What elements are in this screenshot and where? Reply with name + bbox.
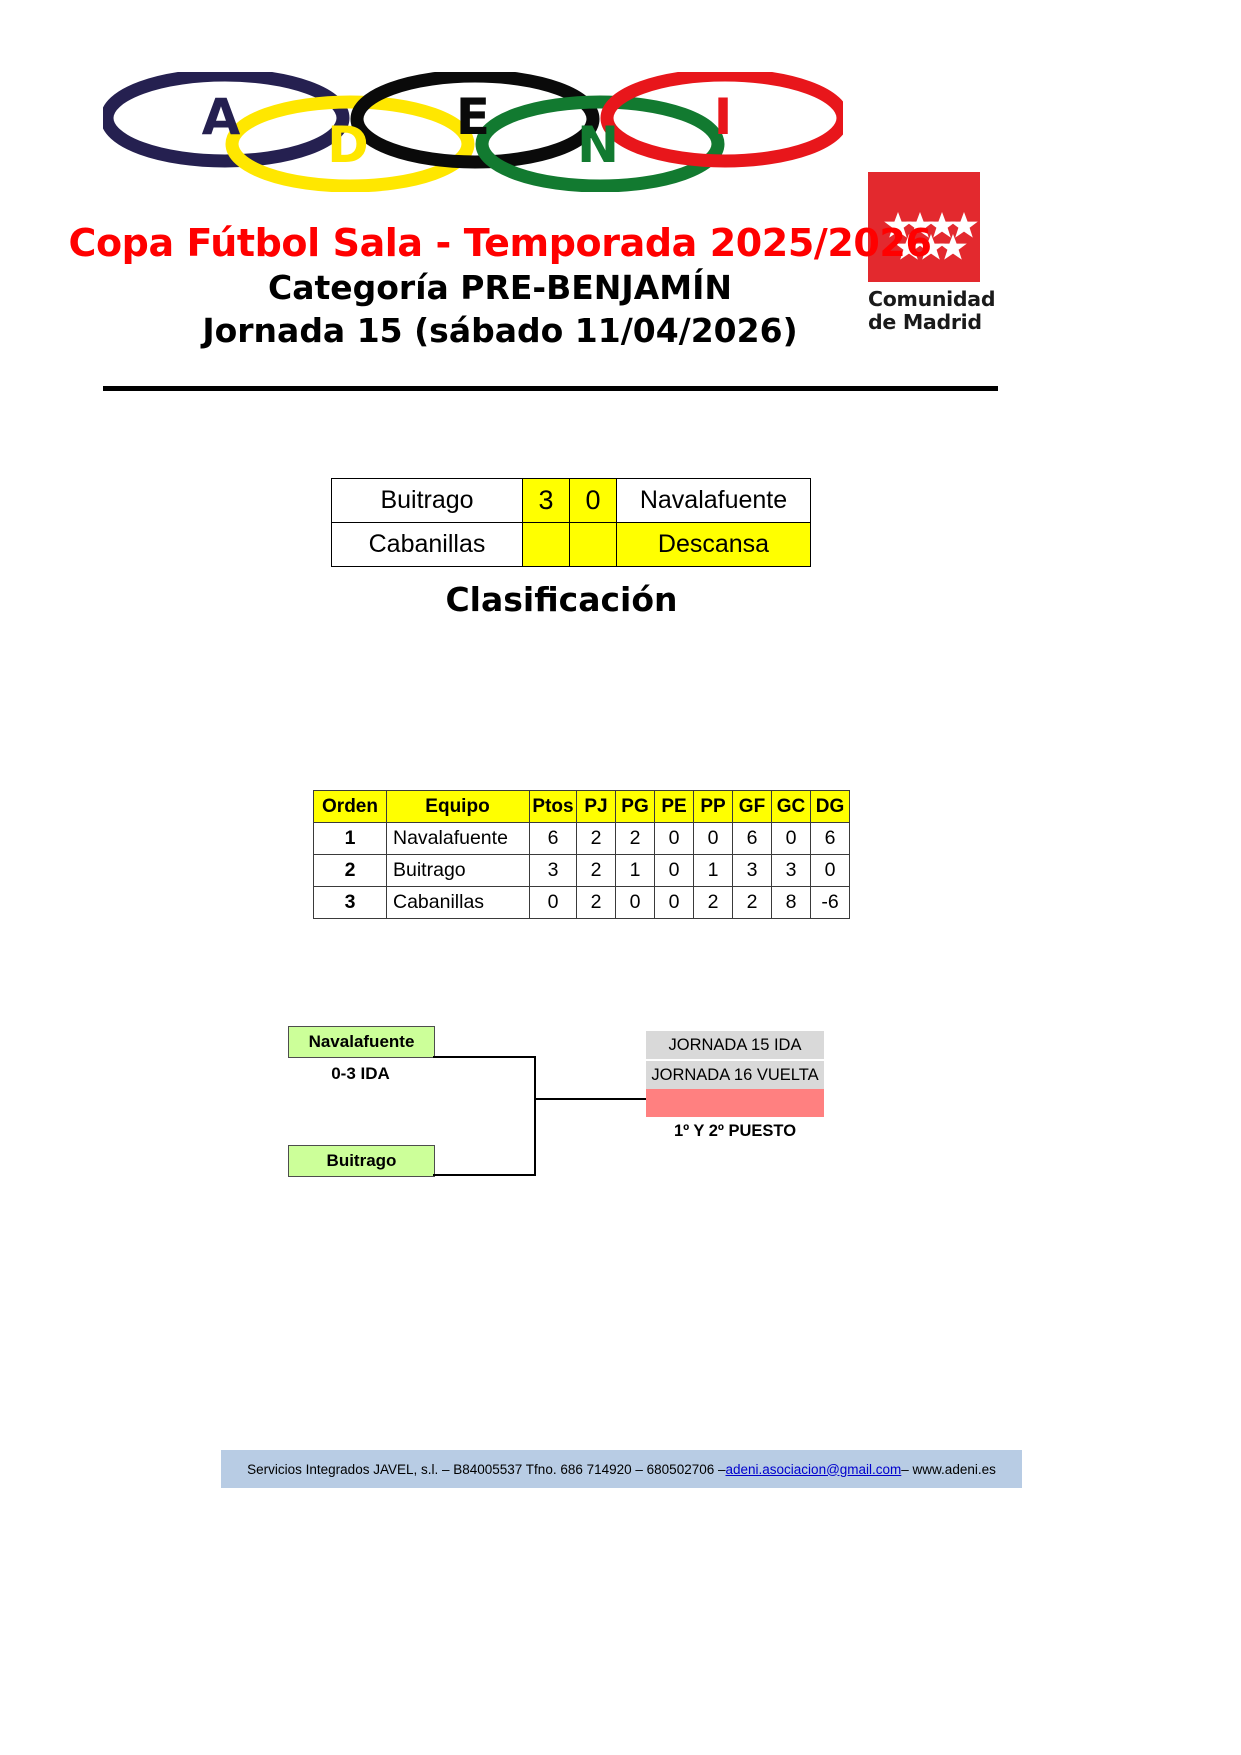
document-page: A D E N I bbox=[0, 0, 1241, 1755]
footer-email-link[interactable]: adeni.asociacion@gmail.com bbox=[726, 1462, 902, 1477]
cell-pp: 0 bbox=[694, 823, 733, 855]
cell-gf: 3 bbox=[733, 855, 772, 887]
match-away-score: 0 bbox=[570, 479, 617, 523]
header-pe: PE bbox=[655, 791, 694, 823]
match-home-score: 3 bbox=[523, 479, 570, 523]
cell-dg: 0 bbox=[811, 855, 850, 887]
bracket-info-vuelta: JORNADA 16 VUELTA bbox=[646, 1061, 824, 1089]
table-row: 3 Cabanillas 0 2 0 0 2 2 8 -6 bbox=[314, 887, 850, 919]
table-row: Cabanillas Descansa bbox=[332, 523, 811, 567]
cell-pp: 2 bbox=[694, 887, 733, 919]
cell-ptos: 3 bbox=[530, 855, 577, 887]
document-header: A D E N I bbox=[0, 0, 1241, 430]
footer-bar: Servicios Integrados JAVEL, s.l. – B8400… bbox=[221, 1450, 1022, 1488]
cell-pp: 1 bbox=[694, 855, 733, 887]
cell-orden: 2 bbox=[314, 855, 387, 887]
header-pp: PP bbox=[694, 791, 733, 823]
header-ptos: Ptos bbox=[530, 791, 577, 823]
bracket-connector-bottom bbox=[433, 1174, 536, 1176]
cell-equipo: Buitrago bbox=[387, 855, 530, 887]
match-away-team: Descansa bbox=[617, 523, 811, 567]
match-results-table: Buitrago 3 0 Navalafuente Cabanillas Des… bbox=[331, 478, 811, 567]
cell-equipo: Navalafuente bbox=[387, 823, 530, 855]
match-home-team: Cabanillas bbox=[332, 523, 523, 567]
table-row: 2 Buitrago 3 2 1 0 1 3 3 0 bbox=[314, 855, 850, 887]
cell-ptos: 6 bbox=[530, 823, 577, 855]
header-orden: Orden bbox=[314, 791, 387, 823]
header-pj: PJ bbox=[577, 791, 616, 823]
cell-equipo: Cabanillas bbox=[387, 887, 530, 919]
bracket-connector-output bbox=[534, 1098, 648, 1100]
cell-gc: 3 bbox=[772, 855, 811, 887]
cell-orden: 1 bbox=[314, 823, 387, 855]
table-row: Buitrago 3 0 Navalafuente bbox=[332, 479, 811, 523]
header-gc: GC bbox=[772, 791, 811, 823]
header-dg: DG bbox=[811, 791, 850, 823]
table-row: 1 Navalafuente 6 2 2 0 0 6 0 6 bbox=[314, 823, 850, 855]
page-title: Copa Fútbol Sala - Temporada 2025/2026 bbox=[0, 222, 1000, 265]
bracket-team-bottom: Buitrago bbox=[288, 1145, 435, 1177]
title-block: Copa Fútbol Sala - Temporada 2025/2026 C… bbox=[0, 222, 1000, 351]
cell-pg: 0 bbox=[616, 887, 655, 919]
footer-text-after: – www.adeni.es bbox=[901, 1462, 996, 1477]
svg-text:A: A bbox=[202, 88, 241, 146]
category-subtitle: Categoría PRE-BENJAMÍN bbox=[0, 268, 1000, 308]
header-equipo: Equipo bbox=[387, 791, 530, 823]
cell-gc: 0 bbox=[772, 823, 811, 855]
svg-text:I: I bbox=[714, 88, 733, 146]
cell-pe: 0 bbox=[655, 823, 694, 855]
cell-orden: 3 bbox=[314, 887, 387, 919]
adeni-logo-icon: A D E N I bbox=[103, 72, 843, 192]
match-away-score bbox=[570, 523, 617, 567]
cell-dg: -6 bbox=[811, 887, 850, 919]
bracket-connector-vertical bbox=[534, 1056, 536, 1176]
cell-ptos: 0 bbox=[530, 887, 577, 919]
match-home-score bbox=[523, 523, 570, 567]
header-pg: PG bbox=[616, 791, 655, 823]
cell-dg: 6 bbox=[811, 823, 850, 855]
standings-heading: Clasificación bbox=[0, 580, 1123, 619]
match-away-team: Navalafuente bbox=[617, 479, 811, 523]
bracket-score-label: 0-3 IDA bbox=[288, 1064, 433, 1084]
bracket-puesto-label: 1º Y 2º PUESTO bbox=[646, 1122, 824, 1141]
standings-table: Orden Equipo Ptos PJ PG PE PP GF GC DG 1… bbox=[313, 790, 850, 919]
cell-pg: 2 bbox=[616, 823, 655, 855]
table-header-row: Orden Equipo Ptos PJ PG PE PP GF GC DG bbox=[314, 791, 850, 823]
cell-pj: 2 bbox=[577, 823, 616, 855]
bracket-team-top: Navalafuente bbox=[288, 1026, 435, 1058]
bracket-final-result-box bbox=[646, 1089, 824, 1117]
cell-pj: 2 bbox=[577, 855, 616, 887]
jornada-subtitle: Jornada 15 (sábado 11/04/2026) bbox=[0, 311, 1000, 351]
cell-gc: 8 bbox=[772, 887, 811, 919]
cell-pg: 1 bbox=[616, 855, 655, 887]
cell-gf: 6 bbox=[733, 823, 772, 855]
cell-pe: 0 bbox=[655, 887, 694, 919]
cell-pe: 0 bbox=[655, 855, 694, 887]
svg-text:E: E bbox=[456, 88, 490, 146]
bracket-info-ida: JORNADA 15 IDA bbox=[646, 1031, 824, 1059]
bracket-connector-top bbox=[433, 1056, 536, 1058]
match-home-team: Buitrago bbox=[332, 479, 523, 523]
svg-text:D: D bbox=[327, 116, 369, 174]
svg-text:N: N bbox=[577, 116, 619, 174]
footer-text-before: Servicios Integrados JAVEL, s.l. – B8400… bbox=[247, 1462, 725, 1477]
header-divider bbox=[103, 386, 998, 391]
cell-gf: 2 bbox=[733, 887, 772, 919]
cell-pj: 2 bbox=[577, 887, 616, 919]
header-gf: GF bbox=[733, 791, 772, 823]
